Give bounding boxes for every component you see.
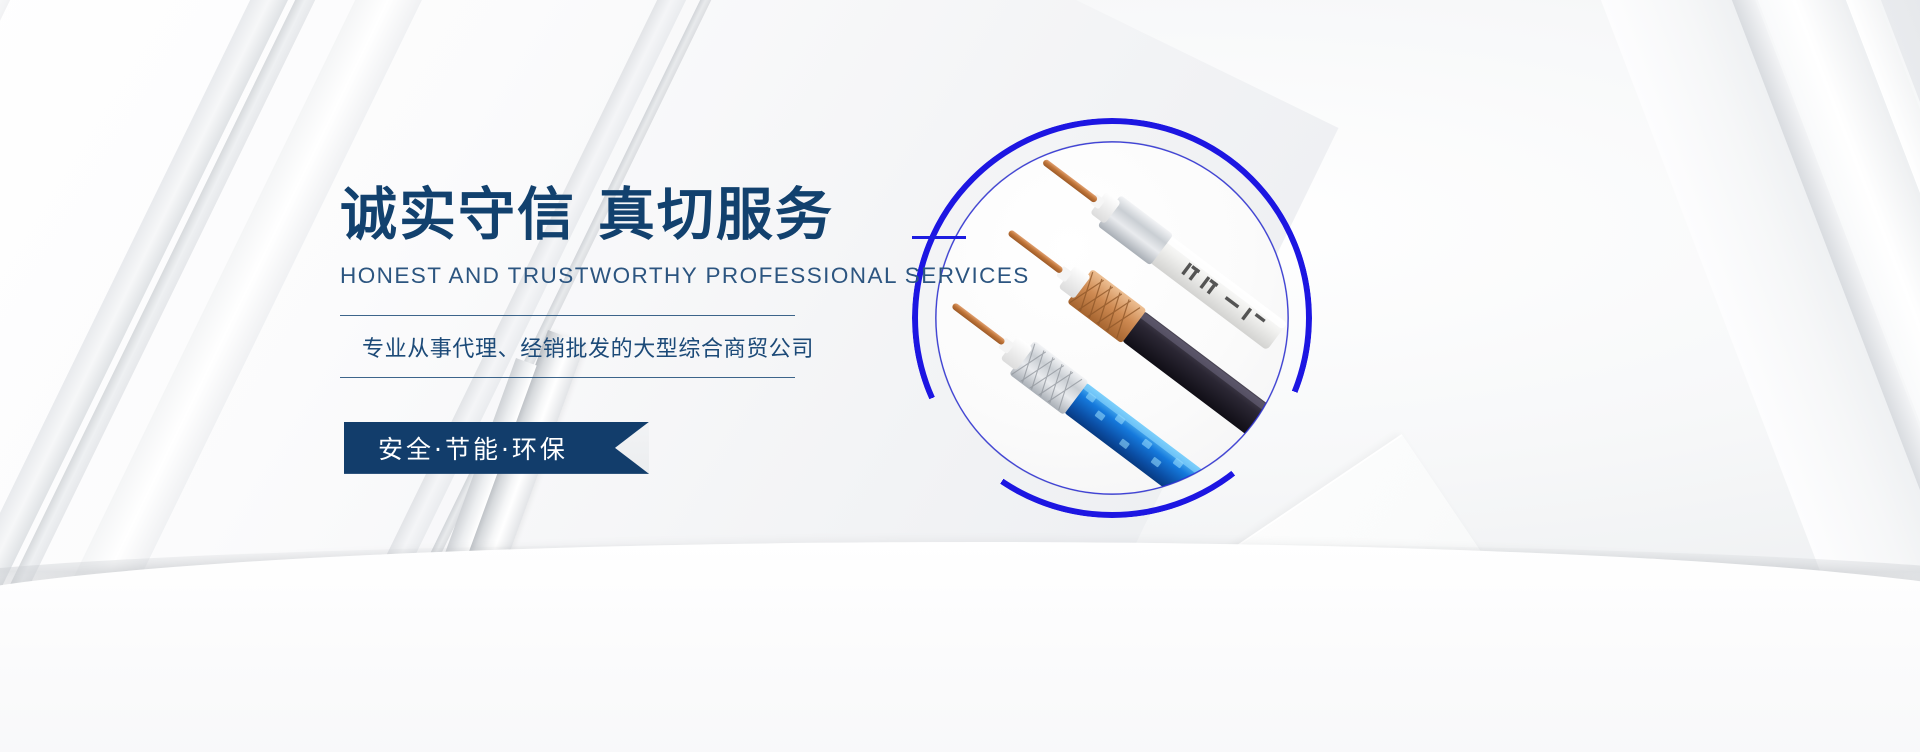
bg-floor [0, 542, 1920, 752]
hero-text-block: 诚实守信 真切服务 HONEST AND TRUSTWORTHY PROFESS… [340, 186, 860, 474]
hero-subheadline: HONEST AND TRUSTWORTHY PROFESSIONAL SERV… [340, 263, 860, 289]
product-medallion [912, 118, 1312, 518]
divider-bottom [340, 377, 795, 378]
divider-top [340, 315, 795, 316]
hero-headline: 诚实守信 真切服务 [340, 186, 860, 246]
hero-banner: 诚实守信 真切服务 HONEST AND TRUSTWORTHY PROFESS… [0, 0, 1920, 752]
hero-description-group: 专业从事代理、经销批发的大型综合商贸公司 [340, 315, 795, 378]
hero-description: 专业从事代理、经销批发的大型综合商贸公司 [340, 316, 795, 377]
blue-accent-tick [912, 236, 966, 239]
ribbon-notch-shape [615, 422, 649, 474]
feature-ribbon: 安全·节能·环保 [344, 422, 649, 474]
feature-ribbon-label: 安全·节能·环保 [344, 430, 568, 466]
medallion-blue-ring [912, 118, 1312, 518]
